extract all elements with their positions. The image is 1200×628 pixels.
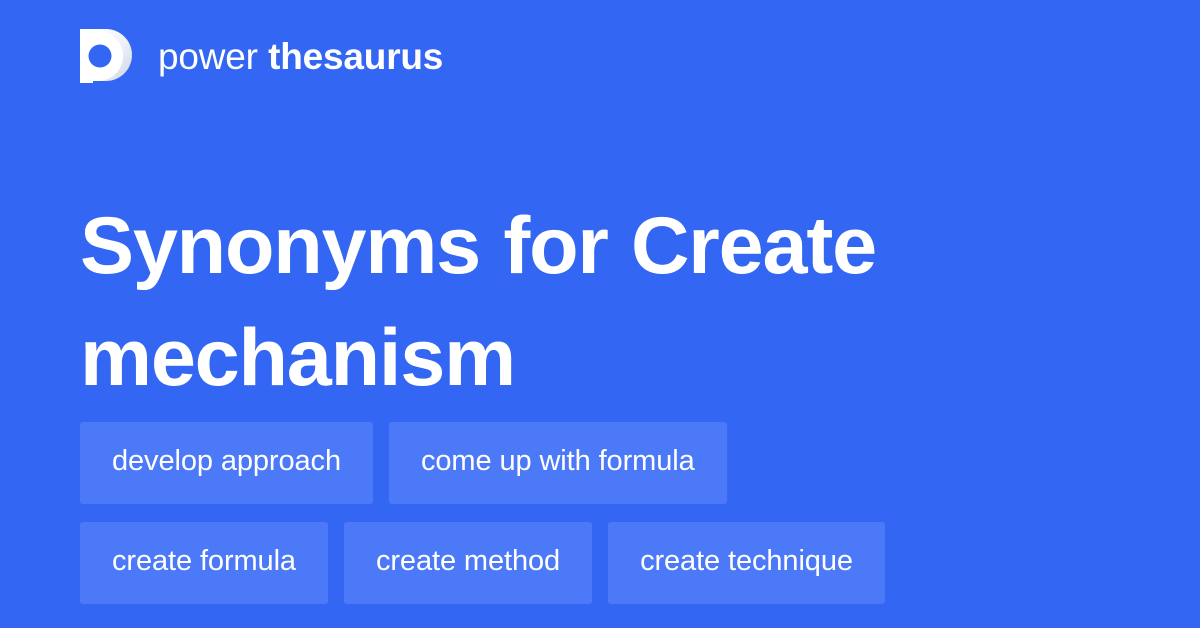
brand-wordmark: powerthesaurus — [158, 38, 443, 75]
share-card: powerthesaurus Synonyms for Create mecha… — [0, 0, 1200, 628]
synonym-chip[interactable]: come up with formula — [389, 422, 727, 504]
synonym-chip[interactable]: create formula — [80, 522, 328, 604]
brand-lockup[interactable]: powerthesaurus — [80, 28, 443, 84]
synonym-chip-row: develop approach come up with formula — [80, 422, 1140, 504]
brand-word-thesaurus: thesaurus — [268, 38, 443, 75]
synonym-chip-row: create formula create method create tech… — [80, 522, 1140, 604]
synonym-chip[interactable]: develop approach — [80, 422, 373, 504]
synonym-chip-list: develop approach come up with formula cr… — [80, 422, 1140, 604]
brand-word-power: power — [158, 38, 258, 75]
synonym-chip[interactable]: create method — [344, 522, 592, 604]
synonym-chip[interactable]: create technique — [608, 522, 885, 604]
power-thesaurus-logo-icon — [80, 29, 132, 83]
page-title: Synonyms for Create mechanism — [80, 191, 1120, 415]
